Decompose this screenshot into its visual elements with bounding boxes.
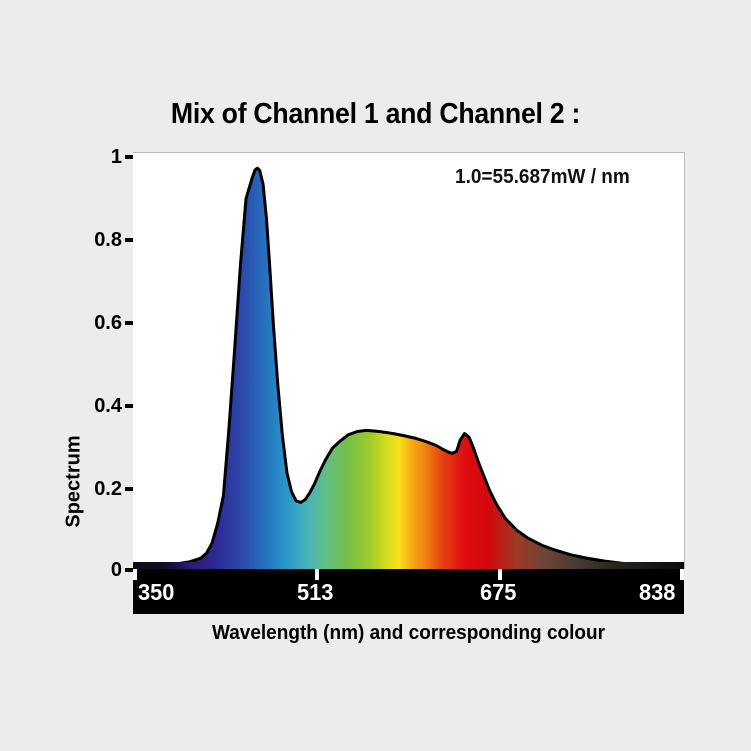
spectrum-area-path <box>133 168 684 569</box>
x-tick-label-513: 513 <box>297 579 333 606</box>
y-tick-label-1: 1 <box>111 146 122 169</box>
spectrum-chart-figure: Mix of Channel 1 and Channel 2 : 1 0.8 0… <box>0 0 751 751</box>
x-tick-label-350: 350 <box>138 579 174 606</box>
calibration-annotation: 1.0=55.687mW / nm <box>455 166 630 189</box>
x-tick-label-838: 838 <box>639 579 675 606</box>
x-tick-label-675: 675 <box>480 579 516 606</box>
y-tick-label-0: 0 <box>111 559 122 582</box>
x-tick-mark-838 <box>680 569 684 580</box>
y-tick-0-8: 0.8 <box>78 229 122 251</box>
y-tick-label-0-2: 0.2 <box>94 478 122 501</box>
y-tick-label-0-4: 0.4 <box>94 395 122 418</box>
y-tick-label-0-6: 0.6 <box>94 312 122 335</box>
y-tick-0: 0 <box>78 559 122 581</box>
plot-area <box>133 152 685 569</box>
y-tick-label-0-8: 0.8 <box>94 229 122 252</box>
y-axis-label: Spectrum <box>63 402 86 562</box>
y-tick-1: 1 <box>78 146 122 168</box>
x-axis-bar: 350 513 675 838 <box>133 562 684 614</box>
x-tick-mark-350 <box>133 569 137 580</box>
y-tick-0-6: 0.6 <box>78 312 122 334</box>
spectrum-colour-strip <box>133 562 684 569</box>
x-axis-label: Wavelength (nm) and corresponding colour <box>147 622 670 645</box>
page-title: Mix of Channel 1 and Channel 2 : <box>30 98 721 131</box>
spectrum-curve-svg <box>133 153 684 569</box>
